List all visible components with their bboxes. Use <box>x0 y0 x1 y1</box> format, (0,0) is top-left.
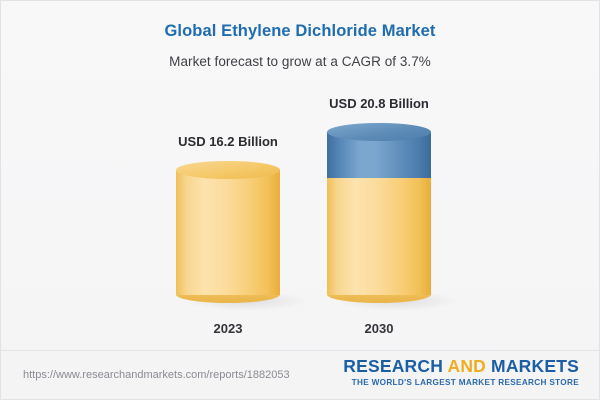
bar-cylinder-body-2023 <box>176 170 280 295</box>
brand-wordmark: RESEARCH AND MARKETS <box>343 357 579 376</box>
bar-value-label-2023: USD 16.2 Billion <box>133 134 323 149</box>
bar-cylinder-2023[interactable] <box>176 161 280 303</box>
brand-tagline: THE WORLD'S LARGEST MARKET RESEARCH STOR… <box>343 377 579 388</box>
bar-cylinder-2030[interactable] <box>327 123 431 303</box>
bar-value-label-2030: USD 20.8 Billion <box>284 96 474 111</box>
bar-cylinder-top-cap-2023 <box>176 161 280 179</box>
bar-cylinder-top-cap-2030 <box>327 123 431 141</box>
brand-logo[interactable]: RESEARCH AND MARKETS THE WORLD'S LARGEST… <box>343 357 579 388</box>
bar-category-label-2030: 2030 <box>284 321 474 336</box>
report-url-link[interactable]: https://www.researchandmarkets.com/repor… <box>23 369 290 381</box>
footer: https://www.researchandmarkets.com/repor… <box>1 351 599 400</box>
brand-wordmark-markets: MARKETS <box>486 356 579 376</box>
brand-wordmark-research: RESEARCH <box>343 356 447 376</box>
plot-area: USD 16.2 Billion 2023 USD 20.8 Billion <box>1 1 600 350</box>
chart-card: Global Ethylene Dichloride Market Market… <box>0 0 600 400</box>
brand-wordmark-and: AND <box>447 356 486 376</box>
bar-segment-base-2030 <box>327 173 431 295</box>
